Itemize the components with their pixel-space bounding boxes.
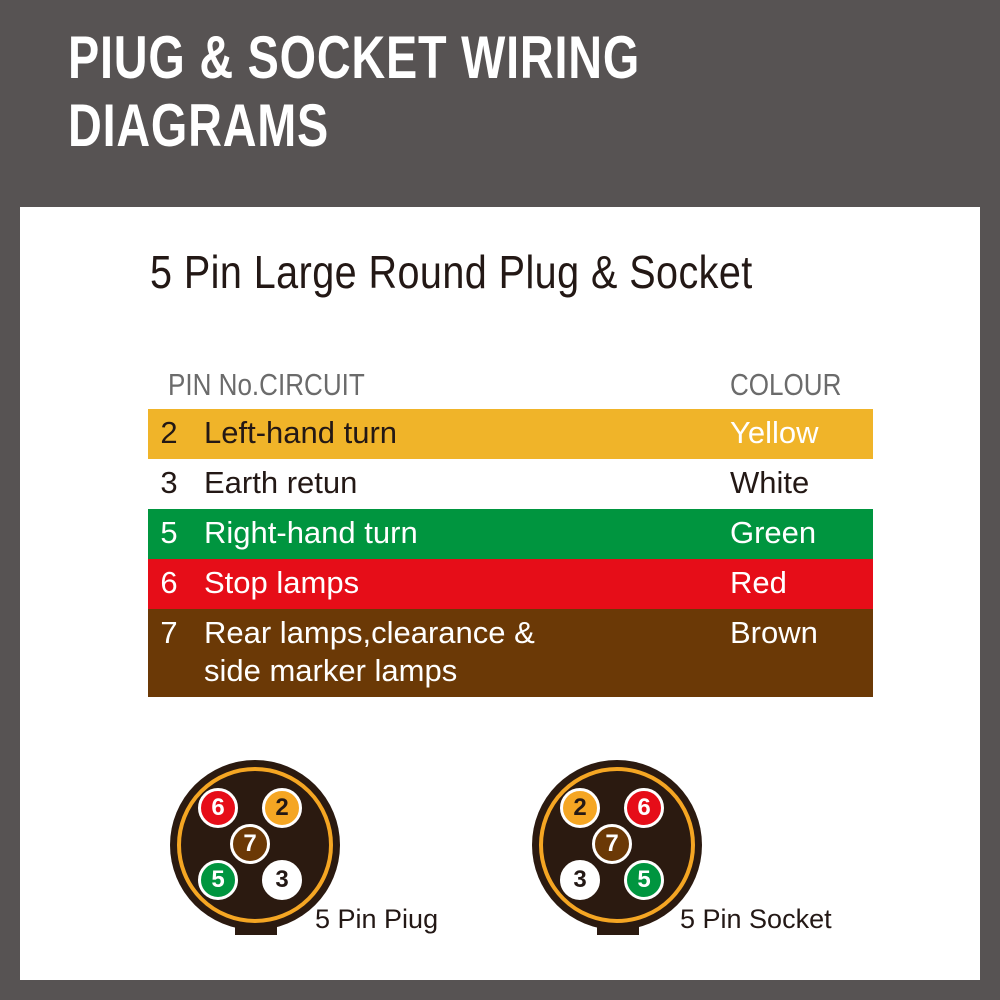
table-header-row: PIN No.CIRCUIT COLOUR: [148, 367, 873, 409]
table-row: 2Left-hand turnYellow: [148, 409, 873, 459]
table-body: 2Left-hand turnYellow3Earth retunWhite5R…: [148, 409, 873, 697]
socket-pin-3: 3: [560, 860, 600, 900]
cell-colour: Green: [730, 514, 816, 552]
column-header-pin-circuit: PIN No.CIRCUIT: [168, 367, 365, 403]
plug-caption: 5 Pin Piug: [315, 904, 438, 934]
plug-pin-3: 3: [262, 860, 302, 900]
plug-pin-5: 5: [198, 860, 238, 900]
page-title-line-2: DIAGRAMS: [68, 96, 739, 156]
plug-pin-2: 2: [262, 788, 302, 828]
plug-pin-7: 7: [230, 824, 270, 864]
connector-diagrams: 62753 5 Pin Piug 26735 5 Pin Socket: [20, 752, 980, 972]
cell-colour: Red: [730, 564, 787, 602]
poster-header: PIUG & SOCKET WIRING DIAGRAMS: [68, 28, 928, 156]
table-row: 6Stop lampsRed: [148, 559, 873, 609]
cell-pin-number: 6: [148, 564, 190, 602]
socket-pin-5: 5: [624, 860, 664, 900]
cell-pin-number: 5: [148, 514, 190, 552]
socket-pin-2: 2: [560, 788, 600, 828]
cell-colour: White: [730, 464, 809, 502]
cell-colour: Yellow: [730, 414, 818, 452]
socket-pin-7: 7: [592, 824, 632, 864]
plug-pin-6: 6: [198, 788, 238, 828]
content-card: 5 Pin Large Round Plug & Socket PIN No.C…: [20, 207, 980, 980]
page-title-line-1: PIUG & SOCKET WIRING: [68, 28, 739, 88]
cell-colour: Brown: [730, 614, 818, 652]
cell-pin-number: 3: [148, 464, 190, 502]
cell-pin-number: 2: [148, 414, 190, 452]
table-row: 3Earth retunWhite: [148, 459, 873, 509]
poster-root: PIUG & SOCKET WIRING DIAGRAMS 5 Pin Larg…: [0, 0, 1000, 1000]
wiring-table: PIN No.CIRCUIT COLOUR 2Left-hand turnYel…: [148, 367, 873, 697]
socket-caption: 5 Pin Socket: [680, 904, 832, 934]
section-subtitle: 5 Pin Large Round Plug & Socket: [150, 247, 753, 297]
socket-pin-6: 6: [624, 788, 664, 828]
column-header-colour: COLOUR: [730, 367, 841, 403]
table-row: 7Rear lamps,clearance &side marker lamps…: [148, 609, 873, 697]
table-row: 5Right-hand turnGreen: [148, 509, 873, 559]
cell-pin-number: 7: [148, 614, 190, 652]
